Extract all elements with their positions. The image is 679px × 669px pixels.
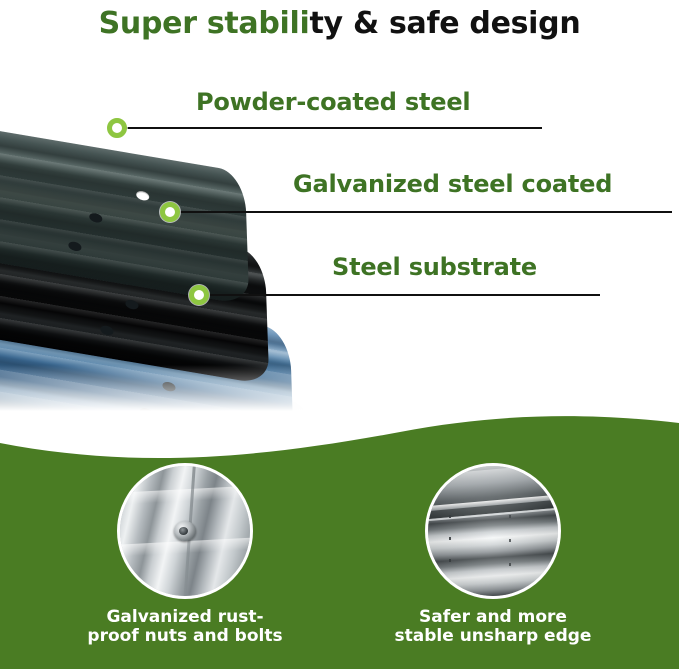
callout-marker-dot-steel-substrate	[189, 285, 209, 305]
feature-image-corrugated-galvanized-panel	[425, 463, 561, 599]
page-title-black-part: ty & safe design	[310, 6, 581, 41]
page-title: Super stabili ty & safe design	[0, 2, 679, 44]
brushed-metal-surface	[120, 466, 250, 596]
feature-unsharp-edge: Safer and more stable unsharp edge	[378, 463, 608, 647]
metal-highlight-band	[117, 485, 253, 505]
bolt-head-icon	[174, 521, 196, 541]
callout-label-steel-substrate: Steel substrate	[332, 253, 537, 281]
corrugated-metal-surface	[428, 466, 558, 596]
callout-leader-line-galvanized-steel-coated	[172, 211, 672, 213]
feature-caption-unsharp-edge: Safer and more stable unsharp edge	[378, 608, 608, 647]
callout-leader-line-powder-coated-steel	[118, 127, 542, 129]
panel-vignette	[428, 466, 558, 596]
callout-leader-line-steel-substrate	[200, 294, 600, 296]
feature-image-brushed-metal-with-bolt	[117, 463, 253, 599]
page-title-green-part: Super stabili	[99, 6, 310, 41]
callout-marker-dot-galvanized-steel-coated	[160, 202, 180, 222]
feature-caption-nuts-and-bolts: Galvanized rust- proof nuts and bolts	[70, 608, 300, 647]
callout-label-powder-coated-steel: Powder-coated steel	[196, 88, 470, 116]
callout-label-galvanized-steel-coated: Galvanized steel coated	[293, 170, 612, 198]
callout-marker-dot-powder-coated-steel	[107, 118, 127, 138]
feature-nuts-and-bolts: Galvanized rust- proof nuts and bolts	[70, 463, 300, 647]
